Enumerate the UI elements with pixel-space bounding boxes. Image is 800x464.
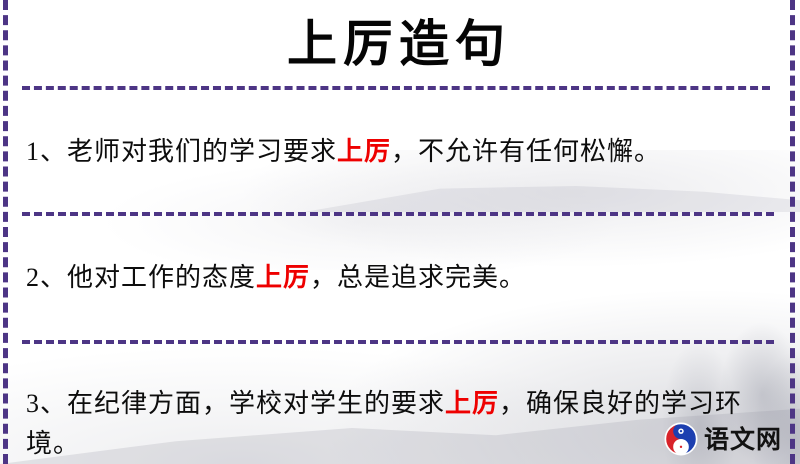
sentence-item: 3、在纪律方面，学校对学生的要求上厉，确保良好的学习环境。 — [22, 370, 776, 464]
sentence-text-after: ，不允许有任何松懈。 — [391, 137, 661, 166]
keyword-highlight: 上厉 — [337, 137, 391, 166]
taiji-fish-icon — [664, 422, 698, 456]
keyword-highlight: 上厉 — [445, 389, 499, 418]
sentence-index: 3、 — [26, 389, 67, 418]
divider-after-sentence-1 — [22, 212, 774, 216]
divider-after-sentence-2 — [22, 340, 774, 344]
content-area: 上厉造句 1、老师对我们的学习要求上厉，不允许有任何松懈。 2、他对工作的态度上… — [0, 0, 800, 464]
sentence-text-before: 他对工作的态度 — [67, 263, 256, 292]
sentence-item: 2、他对工作的态度上厉，总是追求完美。 — [22, 242, 776, 314]
divider-top — [22, 86, 770, 90]
sentence-text-before: 老师对我们的学习要求 — [67, 137, 337, 166]
right-dashed-border — [790, 0, 795, 464]
sentence-item: 1、老师对我们的学习要求上厉，不允许有任何松懈。 — [22, 116, 776, 186]
left-dashed-border — [3, 0, 8, 464]
keyword-highlight: 上厉 — [256, 263, 310, 292]
page-title: 上厉造句 — [22, 0, 776, 79]
sentence-index: 1、 — [26, 137, 67, 166]
site-logo[interactable]: 语文网 — [664, 422, 782, 456]
worksheet-page: 上厉造句 1、老师对我们的学习要求上厉，不允许有任何松懈。 2、他对工作的态度上… — [0, 0, 800, 464]
sentence-index: 2、 — [26, 263, 67, 292]
sentence-text-after: ，总是追求完美。 — [310, 263, 526, 292]
logo-text: 语文网 — [704, 427, 782, 452]
sentence-text-before: 在纪律方面，学校对学生的要求 — [67, 389, 445, 418]
